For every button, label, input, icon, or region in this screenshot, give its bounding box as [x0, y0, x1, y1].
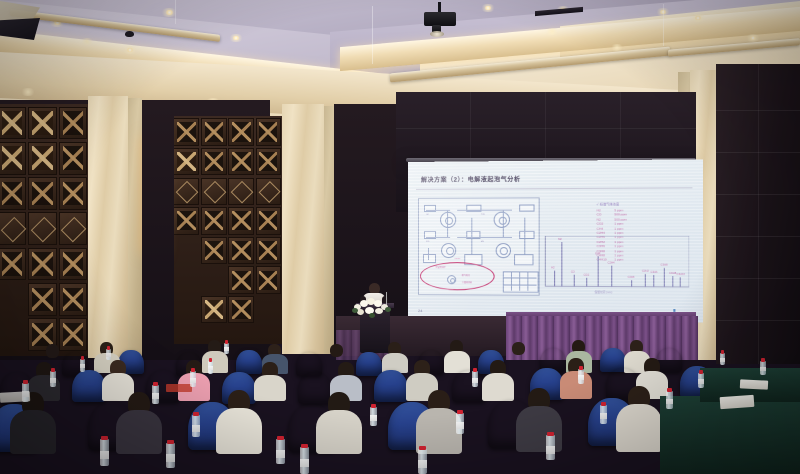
downlight [749, 36, 757, 40]
diagram-highlight-ellipse [420, 262, 495, 290]
chromatogram-peak [554, 270, 555, 287]
chromatogram-peak [611, 265, 612, 287]
attendee-body [116, 410, 162, 454]
water-bottle [370, 404, 377, 426]
water-bottle [600, 402, 607, 424]
chair [374, 370, 408, 402]
chair [236, 350, 262, 374]
downlight [545, 28, 559, 35]
downlight [80, 38, 94, 45]
chromatogram-peak-label: C3H6 [650, 270, 657, 273]
downlight [484, 6, 492, 10]
water-bottle [720, 350, 725, 365]
marble-column-left [88, 96, 128, 358]
water-bottle [472, 368, 478, 387]
chromatogram-peak-label: C4H10 [676, 273, 685, 276]
marble-column-left-edge [128, 98, 142, 356]
wood-lattice-screen-left [0, 104, 88, 356]
downlight [20, 88, 36, 96]
chromatogram-peak-label: H2 [551, 266, 554, 269]
chair [298, 372, 332, 404]
chromatogram-box-top [545, 235, 689, 236]
chromatogram-yaxis [545, 236, 546, 287]
projection-screen: 解决方案（2）：电解液起泡气分析 [408, 159, 703, 322]
slide-page-number: 24 [418, 308, 422, 313]
water-bottle [418, 446, 427, 474]
water-bottle [224, 340, 229, 354]
marble-column-mid [282, 104, 324, 354]
ceiling-dome-speaker [125, 31, 134, 37]
water-bottle [578, 366, 584, 384]
chromatogram-peak [561, 242, 562, 287]
chromatogram-peak [680, 278, 681, 288]
water-bottle [166, 440, 175, 468]
chromatogram-peak-label: C4H8 [669, 272, 676, 275]
flower-arrangement [352, 296, 392, 318]
attendee-body [216, 408, 262, 454]
downlight [610, 44, 624, 51]
chromatogram-plot: H2N2COCO2CH4C2H4C2H6C2H2C3H6C3H8C4H8C4H1… [545, 234, 692, 298]
attendee-body [560, 371, 592, 399]
chromatogram-peak-label: CO [571, 270, 575, 273]
chromatogram-peak-label: C2H2 [642, 269, 649, 272]
papers-on-table [740, 379, 768, 389]
chromatogram-peak-label: CH4 [595, 252, 600, 255]
rail-wire [663, 4, 664, 46]
chair [356, 352, 382, 376]
water-bottle [80, 356, 85, 372]
chromatogram-xlabel: 保留时间 (min) [595, 290, 613, 294]
chromatogram-peak [672, 277, 673, 288]
gas-table-header: ✓ 标准气体浓度 [597, 201, 627, 206]
chromatogram-peak-label: C3H8 [660, 263, 667, 266]
chromatogram-box-right [688, 236, 689, 288]
water-bottle [456, 410, 464, 434]
wall-behind-screen-seam [396, 128, 696, 129]
attendee-body [616, 404, 662, 452]
water-bottle [666, 388, 673, 409]
water-bottle [276, 436, 285, 464]
attendee-body [516, 406, 562, 452]
chromatogram-peak-label: CO2 [584, 274, 590, 277]
water-bottle [50, 368, 56, 387]
downlight [694, 16, 702, 20]
projector-lens-icon [430, 31, 444, 37]
wall-panel-seam-v [758, 64, 759, 364]
chair [72, 370, 106, 402]
water-bottle [192, 412, 200, 437]
attendee-head [46, 344, 59, 358]
attendee-body [10, 410, 56, 454]
attendee-body [316, 410, 362, 454]
attendee-body [482, 373, 514, 401]
papers-on-table [166, 384, 192, 392]
water-bottle [152, 382, 159, 404]
chromatogram-peak-label: C2H6 [628, 276, 635, 279]
water-bottle [106, 346, 111, 360]
chromatogram-peak-label: N2 [558, 238, 561, 241]
chromatogram-peak [645, 273, 646, 287]
chromatogram-peak [664, 268, 665, 288]
rail-wire [372, 6, 373, 64]
attendee-head [512, 342, 525, 355]
water-bottle [698, 370, 704, 388]
downlight [126, 48, 134, 52]
ceiling-projector [424, 12, 456, 26]
water-bottle [190, 368, 196, 387]
water-bottle [208, 358, 213, 374]
water-bottle [300, 444, 309, 474]
chair [452, 370, 486, 402]
chromatogram-peak [631, 280, 632, 287]
chromatogram-peak [654, 274, 655, 287]
downlight [232, 36, 240, 40]
water-bottle [546, 432, 555, 460]
water-bottle [100, 436, 109, 466]
attendee-body [202, 351, 228, 373]
water-bottle [760, 358, 766, 375]
downlight [165, 10, 174, 15]
chromatogram-peak [574, 274, 575, 287]
chromatogram-peak [598, 257, 599, 287]
chromatogram-peak-label: C2H4 [608, 261, 615, 264]
chromatogram-baseline [545, 286, 689, 287]
water-bottle [22, 380, 29, 402]
slide-title-underline [416, 187, 692, 190]
rail-wire [175, 0, 176, 24]
wall-panel-dark-mid [142, 100, 174, 356]
wood-lattice-screen-mid [172, 116, 282, 344]
attendee-body [254, 375, 286, 401]
attendee-head [330, 344, 343, 357]
papers-on-table [720, 395, 755, 409]
conference-hall-photo: 解决方案（2）：电解液起泡气分析 [0, 0, 800, 474]
slide-title: 解决方案（2）：电解液起泡气分析 [421, 174, 521, 184]
